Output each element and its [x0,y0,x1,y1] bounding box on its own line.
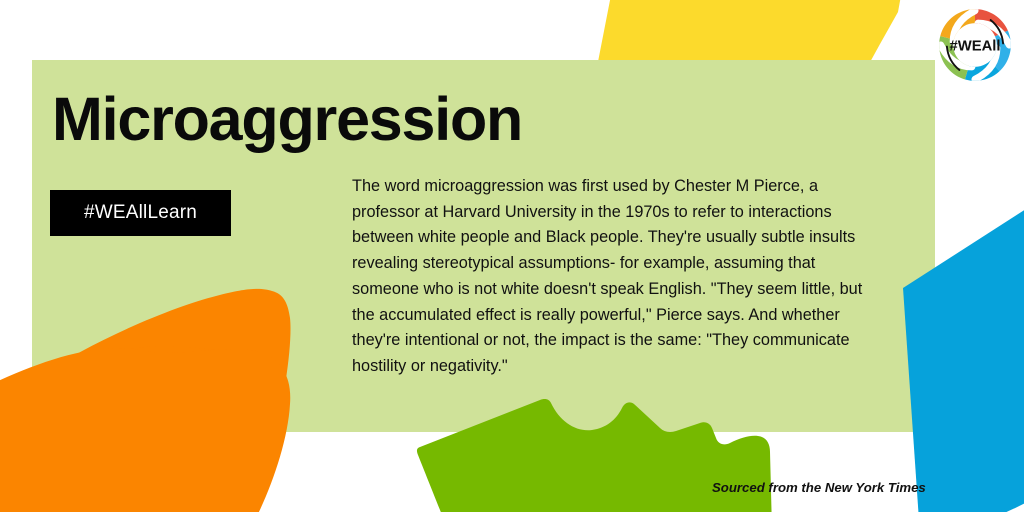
weall-logo[interactable]: #WEAll [936,6,1014,84]
foreground-shapes [0,0,1024,512]
source-credit: Sourced from the New York Times [712,480,926,495]
slide-canvas: Microaggression #WEAllLearn The word mic… [0,0,1024,512]
logo-wordmark: #WEAll [949,38,1000,54]
